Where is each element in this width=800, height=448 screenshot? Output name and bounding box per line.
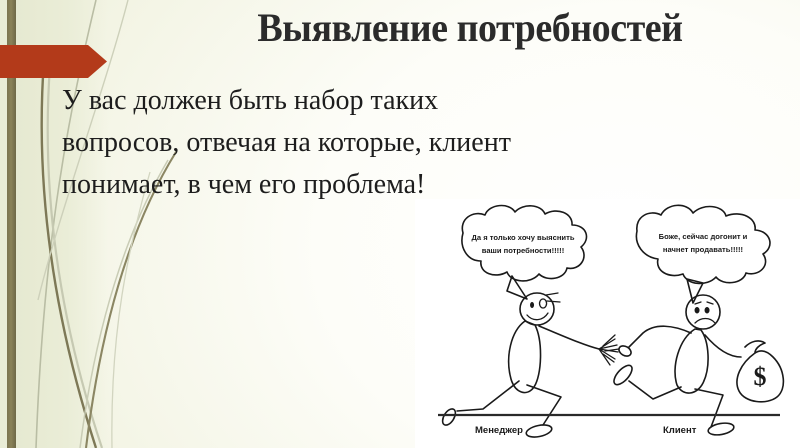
arrow-shape bbox=[0, 44, 108, 79]
label-client: Клиент bbox=[663, 425, 697, 436]
slide: Выявление потребностей У вас должен быть… bbox=[0, 0, 800, 448]
money-bag-icon: $ bbox=[737, 341, 783, 402]
body-line-2: вопросов, отвечая на которые, клиент bbox=[62, 122, 582, 164]
page-title: Выявление потребностей bbox=[157, 3, 784, 53]
bubble-client-line-2: начнет продавать!!!!! bbox=[663, 245, 743, 254]
bubble-manager-line-2: ваши потребности!!!!! bbox=[482, 246, 565, 255]
label-manager: Менеджер bbox=[475, 425, 523, 436]
stick-figure-manager bbox=[440, 293, 619, 439]
body-text: У вас должен быть набор таких вопросов, … bbox=[62, 80, 582, 206]
body-line-1: У вас должен быть набор таких bbox=[62, 80, 582, 122]
cartoon-illustration: Да я только хочу выяснить ваши потребнос… bbox=[415, 199, 800, 448]
money-bag-symbol: $ bbox=[754, 362, 767, 391]
speech-bubble-client: Боже, сейчас догонит и начнет продавать!… bbox=[636, 205, 770, 303]
bubble-manager-line-1: Да я только хочу выяснить bbox=[472, 233, 575, 242]
bubble-client-line-1: Боже, сейчас догонит и bbox=[659, 232, 748, 241]
speech-bubble-manager: Да я только хочу выяснить ваши потребнос… bbox=[462, 206, 587, 299]
